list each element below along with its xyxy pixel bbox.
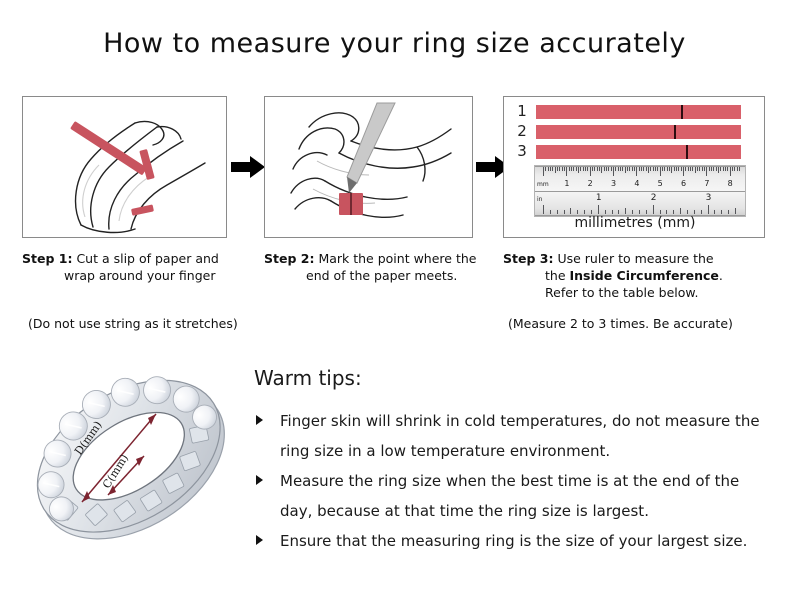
step-3-ruler-panel: 1 2 3 12345678mm 123in millimetres (mm) [503, 96, 765, 238]
warm-tips-heading: Warm tips: [254, 366, 774, 390]
ruler-tick [570, 208, 571, 214]
strip-bar-3 [536, 145, 741, 159]
steps-row: 1 2 3 12345678mm 123in millimetres (mm) [0, 96, 789, 241]
ruler-tick [714, 210, 715, 214]
ruler-tick [692, 167, 693, 171]
ruler-tick [653, 205, 654, 214]
strip-number-2: 2 [514, 122, 530, 140]
ruler-tick [550, 167, 551, 171]
ruler-tick [697, 167, 698, 171]
ruler-tick [604, 167, 605, 171]
ruler-tick [711, 167, 712, 171]
ruler-tick [564, 167, 565, 171]
strip-bar-1 [536, 105, 741, 119]
ruler-tick [562, 167, 563, 171]
bullet-triangle-icon [256, 535, 263, 545]
ruler-tick [555, 167, 556, 173]
ruler-tick [639, 210, 640, 214]
ruler-tick [545, 167, 546, 171]
ring-diagram: D(mm) C(mm) [22, 352, 244, 574]
ruler-tick [557, 167, 558, 171]
ruler-tick [585, 167, 586, 171]
strip-mark-1 [681, 105, 683, 119]
tip-text: Finger skin will shrink in cold temperat… [280, 412, 760, 460]
step-2-illustration-panel [264, 96, 473, 238]
ruler-tick [723, 167, 724, 171]
step-1-note: (Do not use string as it stretches) [28, 316, 238, 331]
ruler-tick [713, 167, 714, 171]
ruler-tick [664, 167, 665, 171]
ruler-tick [559, 167, 560, 171]
measured-strip-2: 2 [514, 125, 758, 139]
step-3-line2-post: . [719, 268, 723, 283]
ruler-cm-label: 1 [564, 180, 569, 188]
ruler-tick [598, 205, 599, 214]
ruler-tick [646, 167, 647, 171]
tip-text: Ensure that the measuring ring is the si… [280, 532, 747, 550]
ruler-tick [592, 167, 593, 171]
ruler-tick [611, 167, 612, 171]
step-3-line1: Use ruler to measure the [557, 251, 713, 266]
step-3-line2-pre: the [545, 268, 570, 283]
ruler-tick [601, 167, 602, 173]
ruler-tick [632, 210, 633, 214]
ruler-tick [606, 167, 607, 171]
step-3-line2: the Inside Circumference. [503, 267, 778, 284]
step-3-label: Step 3: [503, 251, 553, 266]
ruler-tick [706, 167, 707, 176]
ruler-graphic: 12345678mm 123in [534, 165, 746, 217]
ruler-tick [650, 167, 651, 171]
ruler-tick [708, 205, 709, 214]
ruler-tick [599, 167, 600, 171]
ruler-tick [608, 167, 609, 171]
ruler-tick [634, 167, 635, 171]
step-1-line1: Cut a slip of paper and [76, 251, 218, 266]
step-3-line3: Refer to the table below. [503, 284, 778, 301]
ruler-cm-label: 5 [658, 180, 663, 188]
ruler-tick [685, 167, 686, 171]
ruler-tick [709, 167, 710, 171]
ruler-tick [578, 167, 579, 173]
ruler-tick [725, 167, 726, 171]
ruler-tick [688, 167, 689, 171]
ruler-tick [605, 210, 606, 214]
measured-strip-3: 3 [514, 145, 758, 159]
ruler-tick [687, 210, 688, 214]
ruler-tick [727, 167, 728, 171]
ruler-tick [666, 210, 667, 214]
ruler-tick [646, 210, 647, 214]
strip-mark-2 [674, 125, 676, 139]
ruler-tick [591, 210, 592, 214]
ruler-tick [625, 167, 626, 173]
ruler-tick [622, 167, 623, 171]
ruler-tick [590, 167, 591, 176]
ruler-cm-label: 8 [728, 180, 733, 188]
ruler-tick [721, 210, 722, 214]
ruler-tick [699, 167, 700, 171]
ruler-tick [676, 167, 677, 171]
ruler-tick [587, 167, 588, 171]
ruler-tick [695, 167, 696, 173]
tip-text: Measure the ring size when the best time… [280, 472, 739, 520]
ruler-tick [673, 210, 674, 214]
step-2-line2: end of the paper meets. [264, 267, 494, 284]
ruler-tick [730, 167, 731, 176]
ruler-tick [569, 167, 570, 171]
ruler-tick [660, 167, 661, 176]
ruler-tick [683, 167, 684, 176]
ruler-cm-label: 7 [704, 180, 709, 188]
ruler-tick [648, 167, 649, 173]
tip-item: Finger skin will shrink in cold temperat… [254, 406, 774, 466]
ruler-tick [641, 167, 642, 171]
ruler-tick [639, 167, 640, 171]
ruler-tick [718, 167, 719, 173]
measured-strip-1: 1 [514, 105, 758, 119]
ruler-tick [734, 167, 735, 171]
ruler-tick [548, 167, 549, 171]
ruler-cm-label: 2 [588, 180, 593, 188]
ruler-tick [552, 167, 553, 171]
strip-bar-2 [536, 125, 741, 139]
page-title: How to measure your ring size accurately [0, 28, 789, 59]
hand-marking-paper-drawing [265, 97, 472, 237]
ruler-tick [657, 167, 658, 171]
ruler-tick [669, 167, 670, 171]
ruler-tick [716, 167, 717, 171]
ruler-inch-label: 3 [706, 194, 712, 202]
ruler-inch-label: 1 [596, 194, 602, 202]
pen-body [347, 103, 395, 183]
ruler-tick [615, 167, 616, 171]
step-1-line2: wrap around your finger [22, 267, 247, 284]
ruler-tick [674, 167, 675, 171]
ruler-tick [655, 167, 656, 171]
warm-tips-section: Warm tips: Finger skin will shrink in co… [254, 366, 774, 556]
ruler-tick [735, 208, 736, 214]
strip-number-1: 1 [514, 102, 530, 120]
ruler-tick [618, 167, 619, 171]
ruler-tick [680, 208, 681, 214]
ruler-tick [550, 210, 551, 214]
ruler-tick [627, 167, 628, 171]
ruler-tick [571, 167, 572, 171]
ruler-tick [543, 167, 544, 176]
step-2-line1: Mark the point where the [318, 251, 476, 266]
eternity-ring-illustration [22, 352, 244, 574]
step-1-label: Step 1: [22, 251, 72, 266]
ruler-tick [701, 210, 702, 214]
ruler-tick [594, 167, 595, 171]
ruler-cm-unit: mm [537, 181, 549, 189]
ruler-tick [671, 167, 672, 173]
ruler-tick [694, 210, 695, 214]
ruler-tick [618, 210, 619, 214]
step-2-label: Step 2: [264, 251, 314, 266]
ruler-tick [660, 210, 661, 214]
ruler-tick [690, 167, 691, 171]
ruler-inch-unit: in [537, 196, 542, 204]
step-3-note: (Measure 2 to 3 times. Be accurate) [508, 316, 733, 331]
ruler-tick [625, 208, 626, 214]
ruler-tick [576, 167, 577, 171]
ruler-tick [632, 167, 633, 171]
ruler-tick [678, 167, 679, 171]
ruler-tick [612, 210, 613, 214]
ruler-tick [629, 167, 630, 171]
ruler-tick [573, 167, 574, 171]
ruler-tick [681, 167, 682, 171]
step-1-caption: Step 1: Cut a slip of paper and wrap aro… [22, 250, 247, 284]
ruler-tick [737, 167, 738, 171]
step-2-caption: Step 2: Mark the point where the end of … [264, 250, 494, 284]
ruler-cm-label: 3 [611, 180, 616, 188]
ruler-tick [580, 167, 581, 171]
hand-with-paper-strip-drawing [23, 97, 226, 237]
step-3-caption: Step 3: Use ruler to measure the the Ins… [503, 250, 778, 301]
ruler-tick [667, 167, 668, 171]
ruler-cm-label: 6 [681, 180, 686, 188]
ruler-tick [704, 167, 705, 171]
ruler-tick [636, 167, 637, 176]
strip-number-3: 3 [514, 142, 530, 160]
ruler-tick [732, 167, 733, 171]
ruler-tick [584, 210, 585, 214]
ruler-tick [620, 167, 621, 171]
ruler-tick [728, 210, 729, 214]
ruler-tick [543, 205, 544, 214]
ruler-tick [566, 167, 567, 176]
ruler-tick [564, 210, 565, 214]
ruler-tick [720, 167, 721, 171]
ruler-cm-label: 4 [634, 180, 639, 188]
flow-arrow-1-to-2 [231, 155, 265, 179]
ruler-tick [739, 167, 740, 171]
ruler-tick [653, 167, 654, 171]
ruler-tick [662, 167, 663, 171]
ruler-unit-caption: millimetres (mm) [504, 215, 765, 231]
ruler-tick [577, 210, 578, 214]
ruler-tick [702, 167, 703, 171]
step-1-illustration-panel [22, 96, 227, 238]
ruler-tick [613, 167, 614, 176]
tip-item: Measure the ring size when the best time… [254, 466, 774, 526]
ruler-tick [597, 167, 598, 171]
ruler-tick [583, 167, 584, 171]
strip-mark-3 [686, 145, 688, 159]
ruler-tick [643, 167, 644, 171]
ruler-tick [557, 210, 558, 214]
ruler-inch-label: 2 [651, 194, 657, 202]
bullet-triangle-icon [256, 475, 263, 485]
bullet-triangle-icon [256, 415, 263, 425]
tip-item: Ensure that the measuring ring is the si… [254, 526, 774, 556]
inside-circumference-emphasis: Inside Circumference [570, 268, 719, 283]
